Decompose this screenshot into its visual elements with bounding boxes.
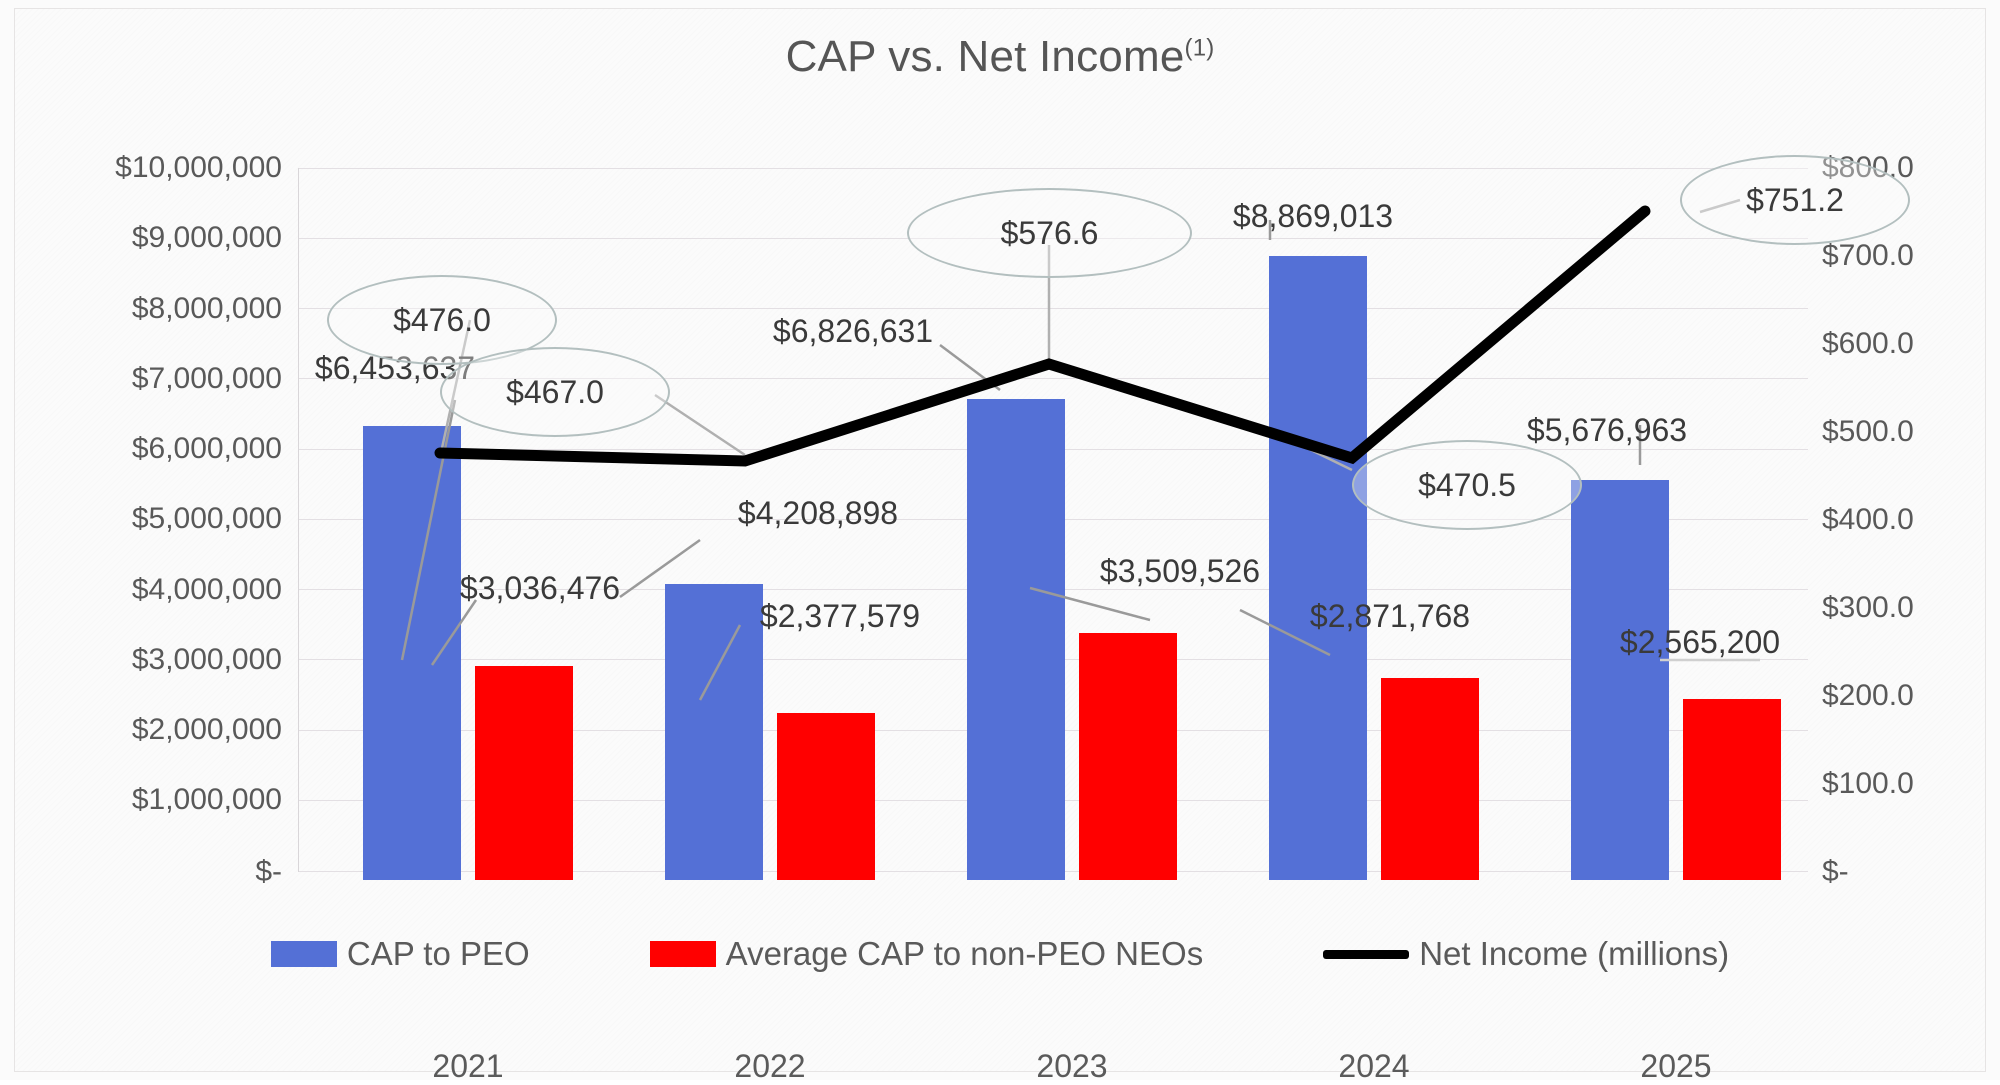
chart-title-footnote-marker: (1) (1185, 34, 1215, 61)
right-axis-tick-400: $400.0 (1822, 503, 1914, 537)
left-axis-tick-7m: $7,000,000 (132, 362, 282, 396)
left-axis-tick-2m: $2,000,000 (132, 713, 282, 747)
legend-item-net-income[interactable]: Net Income (millions) (1323, 935, 1729, 973)
left-axis-tick-5m: $5,000,000 (132, 502, 282, 536)
chart-title: CAP vs. Net Income(1) (0, 32, 2000, 82)
bar-avg-cap-neo-2023 (1079, 633, 1177, 880)
callout-net-income-2023: $576.6 (907, 188, 1192, 278)
legend-label-cap-to-peo: CAP to PEO (347, 935, 530, 973)
left-axis-tick-4m: $4,000,000 (132, 573, 282, 607)
callout-net-income-2025: $751.2 (1680, 155, 1910, 245)
legend-item-avg-cap-neo[interactable]: Average CAP to non-PEO NEOs (650, 935, 1204, 973)
callout-net-income-2024: $470.5 (1352, 440, 1582, 530)
chart-title-text: CAP vs. Net Income (786, 32, 1185, 81)
data-label-peo-2024: $8,869,013 (1233, 198, 1393, 235)
left-axis-tick-10m: $10,000,000 (115, 151, 282, 185)
chart-container: CAP vs. Net Income(1) 2021 2022 2023 202… (0, 0, 2000, 1080)
bar-cap-to-peo-2022 (665, 584, 763, 880)
right-axis-tick-700: $700.0 (1822, 239, 1914, 273)
legend-item-cap-to-peo[interactable]: CAP to PEO (271, 935, 530, 973)
bar-avg-cap-neo-2024 (1381, 678, 1479, 880)
left-axis-tick-0: $- (255, 855, 282, 889)
left-axis-tick-9m: $9,000,000 (132, 221, 282, 255)
right-axis-tick-600: $600.0 (1822, 327, 1914, 361)
bar-cap-to-peo-2023 (967, 399, 1065, 880)
callout-net-income-2022: $467.0 (440, 347, 670, 437)
data-label-neo-2022: $2,377,579 (760, 598, 920, 635)
right-axis-tick-0: $- (1822, 855, 1849, 889)
legend-swatch-line-icon (1323, 950, 1409, 959)
chart-legend: CAP to PEO Average CAP to non-PEO NEOs N… (0, 935, 2000, 973)
bar-avg-cap-neo-2022 (777, 713, 875, 880)
data-label-neo-2025: $2,565,200 (1620, 624, 1780, 661)
x-axis-label-2024: 2024 (1338, 1048, 1409, 1085)
right-axis-tick-200: $200.0 (1822, 679, 1914, 713)
right-axis-tick-100: $100.0 (1822, 767, 1914, 801)
left-axis-line (298, 168, 299, 872)
data-label-neo-2023: $3,509,526 (1100, 553, 1260, 590)
data-label-neo-2024: $2,871,768 (1310, 598, 1470, 635)
bar-avg-cap-neo-2021 (475, 666, 573, 880)
bar-cap-to-peo-2024 (1269, 256, 1367, 880)
legend-label-avg-cap-neo: Average CAP to non-PEO NEOs (726, 935, 1204, 973)
data-label-peo-2025: $5,676,963 (1527, 412, 1687, 449)
x-axis-label-2021: 2021 (432, 1048, 503, 1085)
x-axis-label-2025: 2025 (1640, 1048, 1711, 1085)
gridline (298, 168, 1808, 169)
bar-cap-to-peo-2025 (1571, 480, 1669, 880)
left-axis-tick-6m: $6,000,000 (132, 432, 282, 466)
bar-cap-to-peo-2021 (363, 426, 461, 880)
x-axis-label-2022: 2022 (734, 1048, 805, 1085)
data-label-peo-2023: $6,826,631 (773, 313, 933, 350)
left-axis-tick-3m: $3,000,000 (132, 643, 282, 677)
right-axis-tick-300: $300.0 (1822, 591, 1914, 625)
legend-swatch-blue-icon (271, 941, 337, 967)
data-label-peo-2022: $4,208,898 (738, 495, 898, 532)
left-axis-tick-8m: $8,000,000 (132, 292, 282, 326)
bar-avg-cap-neo-2025 (1683, 699, 1781, 880)
legend-swatch-red-icon (650, 941, 716, 967)
left-axis-tick-1m: $1,000,000 (132, 783, 282, 817)
x-axis-label-2023: 2023 (1036, 1048, 1107, 1085)
right-axis-tick-500: $500.0 (1822, 415, 1914, 449)
data-label-neo-2021: $3,036,476 (460, 570, 620, 607)
legend-label-net-income: Net Income (millions) (1419, 935, 1729, 973)
